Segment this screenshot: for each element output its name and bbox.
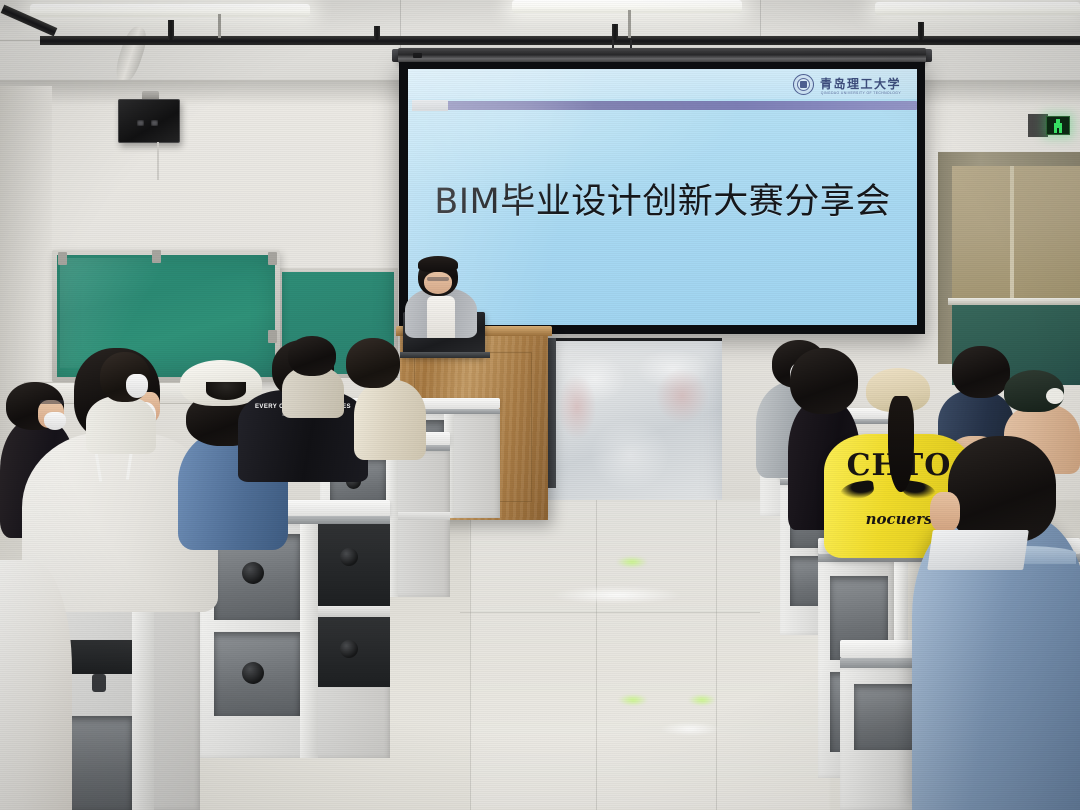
student-head	[288, 336, 336, 376]
running-person-glyph	[1052, 119, 1065, 133]
student-torso	[354, 380, 426, 460]
speaker-driver	[137, 120, 144, 126]
panel-reflection	[656, 369, 708, 423]
university-seal-icon	[793, 74, 814, 95]
floor-light-reflection	[688, 694, 716, 706]
desk-divider	[300, 524, 318, 758]
slide-divider-bar	[424, 101, 917, 110]
presenter-shirt	[427, 296, 455, 338]
slide-title: BIM毕业设计创新大赛分享会	[408, 173, 917, 224]
ceiling-light	[875, 2, 1080, 15]
student-head	[790, 348, 858, 414]
light-hanger	[218, 14, 221, 38]
floor-gloss	[470, 500, 830, 810]
desk-knob	[242, 562, 264, 584]
floor-light-reflection	[618, 694, 648, 706]
emergency-exit-icon	[1046, 116, 1070, 135]
ceiling-conduit	[40, 36, 1080, 45]
desk-divider	[132, 600, 154, 810]
desk-knob	[340, 548, 358, 566]
desk-inner-gap	[318, 524, 390, 606]
student-head	[948, 436, 1056, 542]
wall-speaker-icon	[118, 99, 180, 143]
floor-tile-seam	[716, 500, 717, 810]
cap-brim	[206, 382, 246, 400]
board-clip	[152, 250, 161, 263]
ceiling-light	[30, 4, 310, 17]
student-head	[346, 338, 400, 388]
board-clip	[268, 330, 277, 343]
laptop-icon	[927, 530, 1029, 570]
speaker-cable	[157, 142, 159, 180]
hair-tie	[1046, 388, 1064, 404]
desk-knob	[340, 640, 358, 658]
ceiling-light	[512, 0, 742, 13]
desk-knob	[92, 674, 106, 692]
presenter-face	[424, 272, 452, 294]
face-mask	[44, 412, 66, 430]
conduit-drop	[918, 22, 924, 40]
window-curtain	[952, 166, 1080, 300]
panel-reflection	[590, 419, 670, 491]
presentation-slide: 青岛理工大学 QINGDAO UNIVERSITY OF TECHNOLOGY …	[408, 69, 917, 325]
conduit-drop	[612, 24, 618, 40]
desk-cubby	[66, 716, 132, 810]
floor-tile-seam	[596, 500, 597, 810]
curtain-seam	[1010, 166, 1014, 300]
face-mask	[126, 374, 148, 398]
student-ear	[930, 492, 960, 532]
student-torso	[86, 396, 156, 454]
desk-shelf	[318, 606, 390, 617]
slide-corner-tab	[412, 100, 448, 111]
desk-shelf	[398, 512, 450, 520]
student-torso	[0, 560, 72, 810]
projection-screen: 青岛理工大学 QINGDAO UNIVERSITY OF TECHNOLOGY …	[399, 62, 925, 334]
classroom-photo: 青岛理工大学 QINGDAO UNIVERSITY OF TECHNOLOGY …	[0, 0, 1080, 810]
window-sill	[948, 298, 1080, 305]
laptop-hinge	[400, 352, 490, 358]
floor-tile-seam	[460, 612, 760, 613]
floor-light-reflection	[552, 586, 682, 604]
glasses	[40, 400, 64, 404]
panel-reflection	[558, 375, 596, 439]
roller-sensor-icon	[413, 53, 422, 58]
desk-knob	[242, 662, 264, 684]
speaker-driver	[151, 120, 158, 126]
presenter-hair	[418, 256, 458, 272]
ponytail	[888, 396, 914, 492]
floor-tile-seam	[470, 500, 471, 810]
presenter-glasses	[427, 277, 449, 281]
exit-sign-housing	[1028, 114, 1048, 137]
light-hanger	[628, 10, 631, 38]
wall-glass-panel	[540, 338, 722, 518]
conduit-drop	[374, 26, 380, 40]
board-clip	[268, 252, 277, 265]
screen-roller-housing	[398, 48, 926, 63]
university-subtitle: QINGDAO UNIVERSITY OF TECHNOLOGY	[821, 91, 901, 95]
university-name: 青岛理工大学	[820, 78, 901, 90]
student-head	[952, 346, 1010, 398]
floor-light-reflection	[616, 556, 648, 568]
board-clip	[58, 252, 67, 265]
conduit-drop	[168, 20, 174, 40]
floor-light-reflection	[660, 722, 720, 736]
